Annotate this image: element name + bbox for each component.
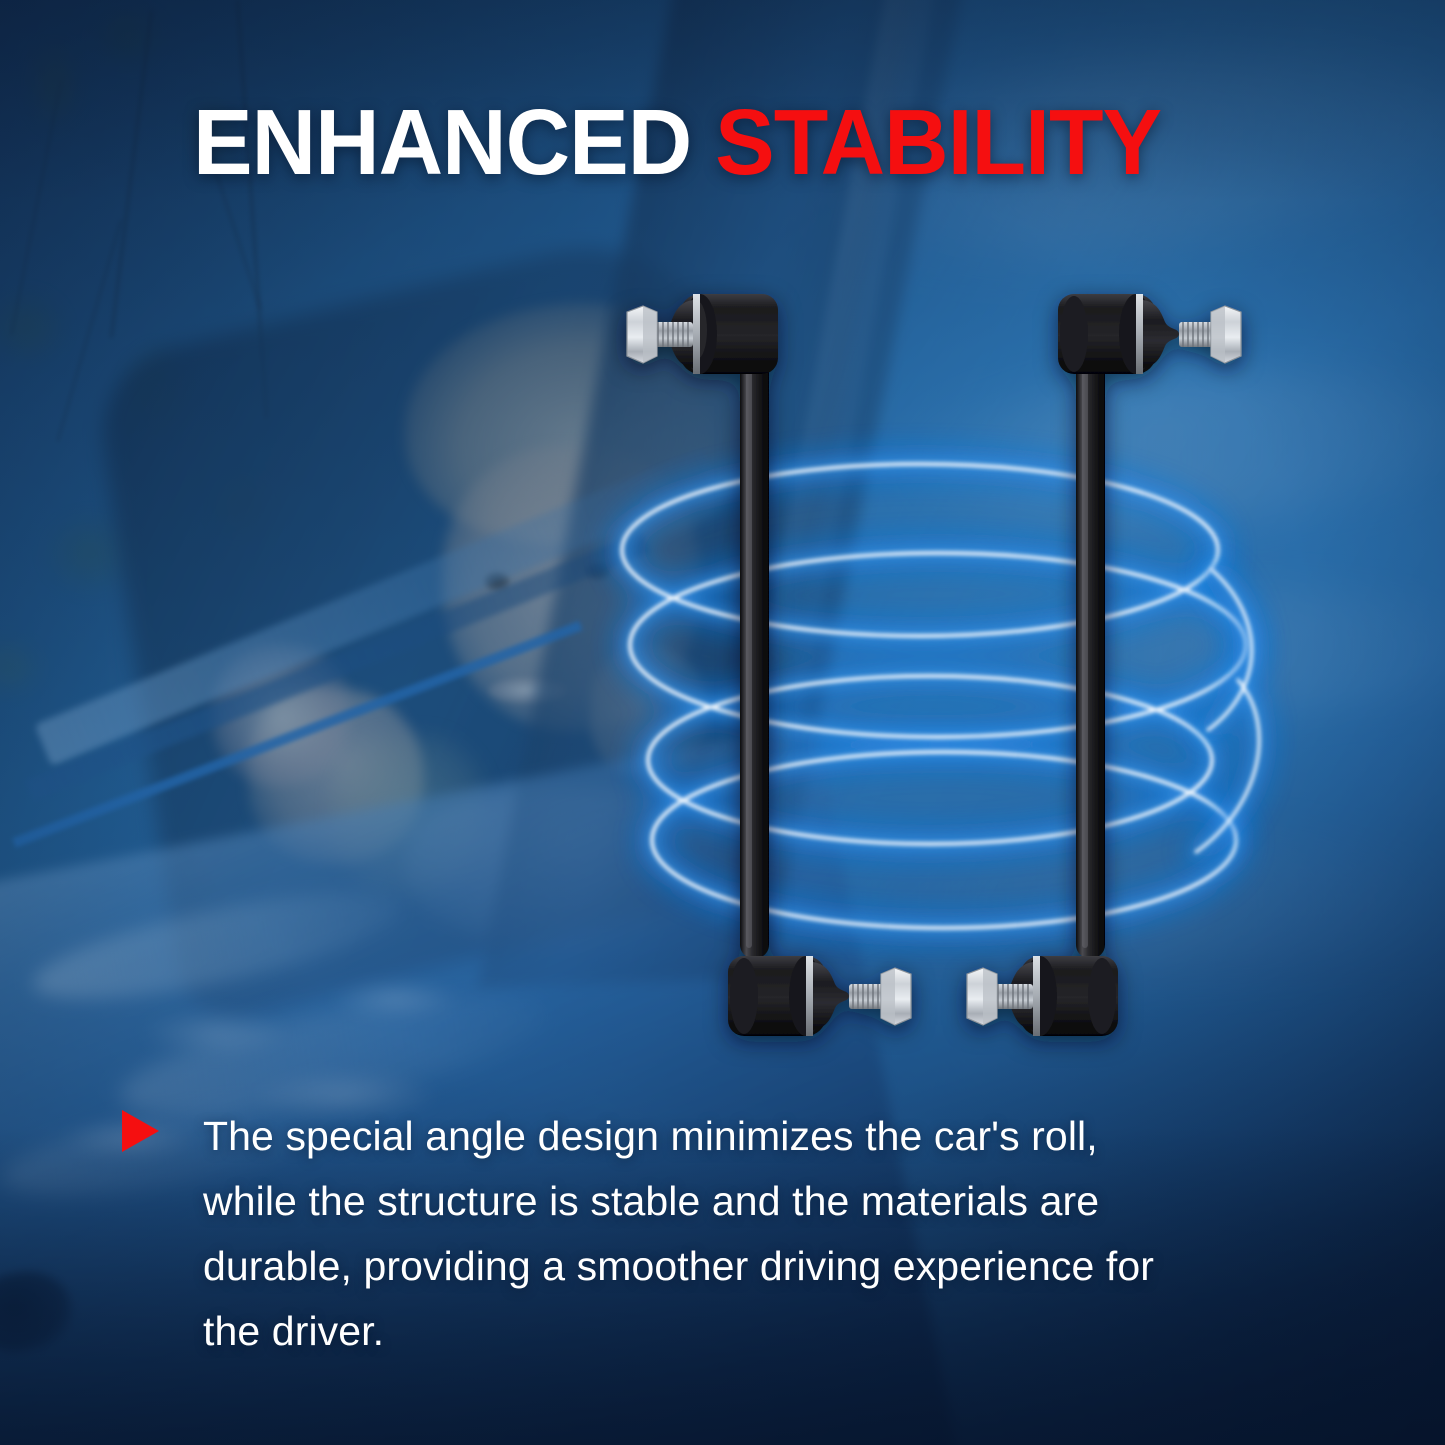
feature-description: The special angle design minimizes the c…: [203, 1104, 1203, 1364]
joint-bottom-left: [728, 956, 911, 1036]
joint-top-right: [1058, 294, 1241, 374]
joint-bottom-right: [967, 956, 1118, 1036]
sway-bar-link-right: [967, 294, 1241, 1036]
sway-bar-link-left: [627, 294, 911, 1036]
product-banner: ENHANCED STABILITY The special angle des…: [0, 0, 1445, 1445]
page-title: ENHANCED STABILITY: [193, 96, 1161, 189]
headline-word-enhanced: ENHANCED: [193, 90, 691, 194]
triangle-bullet-icon: [122, 1110, 159, 1152]
headline-word-stability: STABILITY: [715, 90, 1161, 194]
joint-top-left: [627, 294, 778, 374]
